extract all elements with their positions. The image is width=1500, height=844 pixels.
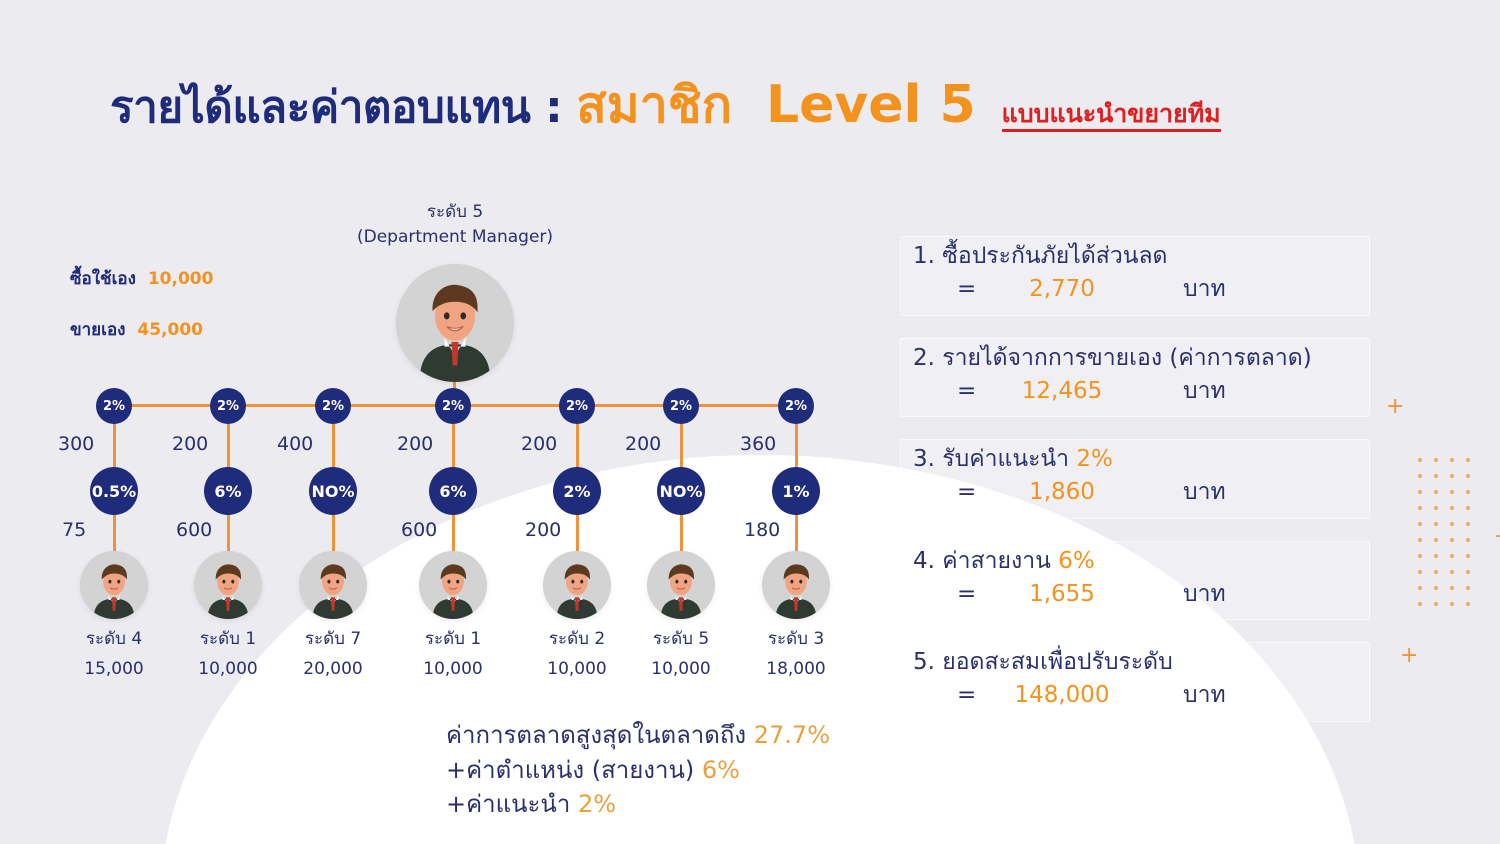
tree-mid-amount: 200 xyxy=(525,519,561,541)
tree-member-avatar xyxy=(419,551,487,619)
summary-block: ค่าการตลาดสูงสุดในตลาดถึง 27.7% +ค่าตำแห… xyxy=(446,718,830,822)
calculation-label: 1. ซื้อประกันภัยได้ส่วนลด xyxy=(913,241,1363,272)
tree-mid-badge: NO% xyxy=(309,467,357,515)
tree-mid-badge: 2% xyxy=(553,467,601,515)
calculation-equals-sign: = xyxy=(913,374,987,409)
tree-vertical-connector xyxy=(452,422,455,469)
tree-mid-badge: 6% xyxy=(204,467,252,515)
page-title: รายได้และค่าตอบแทน : สมาชิก Level 5 แบบแ… xyxy=(110,66,1221,145)
tree-vertical-connector xyxy=(680,513,683,553)
title-main-text: รายได้และค่าตอบแทน : xyxy=(110,72,562,142)
tree-member-sales: 10,000 xyxy=(168,655,288,685)
person-avatar-icon xyxy=(762,551,830,619)
calculation-equals-sign: = xyxy=(913,678,987,713)
person-avatar-icon xyxy=(419,551,487,619)
person-avatar-icon xyxy=(543,551,611,619)
calculation-unit: บาท xyxy=(1183,475,1226,510)
calculation-text: ซื้อประกันภัยได้ส่วนลด xyxy=(942,243,1167,269)
summary-line-2-text: +ค่าตำแหน่ง (สายงาน) xyxy=(446,756,694,784)
tree-member-level: ระดับ 4 xyxy=(54,625,174,655)
person-avatar-icon xyxy=(396,264,514,382)
tree-top-badge: 2% xyxy=(96,388,132,424)
tree-top-badge: 2% xyxy=(778,388,814,424)
title-subtitle-text: แบบแนะนำขยายทีม xyxy=(1002,101,1221,132)
calculation-number: 3. xyxy=(913,446,935,472)
calculation-value-row: =1,860บาท xyxy=(913,475,1363,510)
tree-member-sales: 20,000 xyxy=(273,655,393,685)
calculation-number: 5. xyxy=(913,649,935,675)
calculation-unit: บาท xyxy=(1183,374,1226,409)
tree-member-caption: ระดับ 110,000 xyxy=(393,625,513,685)
calculation-unit: บาท xyxy=(1183,678,1226,713)
person-avatar-icon xyxy=(80,551,148,619)
person-avatar-icon xyxy=(647,551,715,619)
calculation-percent: 2% xyxy=(1076,446,1113,472)
tree-member-sales: 10,000 xyxy=(517,655,637,685)
tree-mid-amount: 180 xyxy=(744,519,780,541)
arc-decoration xyxy=(1390,650,1500,844)
tree-mid-badge: 0.5% xyxy=(90,467,138,515)
person-avatar-icon xyxy=(194,551,262,619)
calculation-value: 12,465 xyxy=(987,374,1137,409)
tree-member-caption: ระดับ 510,000 xyxy=(621,625,741,685)
tree-member-sales: 10,000 xyxy=(393,655,513,685)
calculation-number: 1. xyxy=(913,243,935,269)
calculation-equals-sign: = xyxy=(913,577,987,612)
calculation-number: 2. xyxy=(913,345,935,371)
tree-member-avatar xyxy=(543,551,611,619)
calculation-value-row: =148,000บาท xyxy=(913,678,1363,713)
calculation-card: 3. รับค่าแนะนำ 2%=1,860บาท xyxy=(900,439,1370,519)
plus-decoration-icon: + xyxy=(1386,396,1404,418)
tree-member-avatar xyxy=(647,551,715,619)
root-avatar xyxy=(396,264,514,382)
self-amounts-block: ซื้อใช้เอง 10,000 ขายเอง 45,000 xyxy=(70,265,213,367)
calculation-equals-sign: = xyxy=(913,475,987,510)
tree-mid-amount: 600 xyxy=(401,519,437,541)
calculation-label: 5. ยอดสะสมเพื่อปรับระดับ xyxy=(913,647,1363,678)
plus-decoration-icon: + xyxy=(1400,645,1418,667)
tree-top-amount: 360 xyxy=(740,433,776,455)
self-buy-row: ซื้อใช้เอง 10,000 xyxy=(70,265,213,292)
calculation-value-row: =1,655บาท xyxy=(913,577,1363,612)
calculation-label: 2. รายได้จากการขายเอง (ค่าการตลาด) xyxy=(913,343,1363,374)
tree-member-level: ระดับ 2 xyxy=(517,625,637,655)
tree-top-amount: 300 xyxy=(58,433,94,455)
tree-vertical-connector xyxy=(227,513,230,553)
tree-member-sales: 18,000 xyxy=(736,655,856,685)
calculation-value: 2,770 xyxy=(987,272,1137,307)
calculation-card: 1. ซื้อประกันภัยได้ส่วนลด=2,770บาท xyxy=(900,236,1370,316)
tree-mid-amount: 600 xyxy=(176,519,212,541)
summary-line-1: ค่าการตลาดสูงสุดในตลาดถึง 27.7% xyxy=(446,718,830,753)
tree-vertical-connector xyxy=(332,422,335,469)
tree-top-badge: 2% xyxy=(559,388,595,424)
root-role-label: (Department Manager) xyxy=(300,225,610,250)
tree-vertical-connector xyxy=(332,513,335,553)
tree-mid-badge: 6% xyxy=(429,467,477,515)
tree-member-sales: 10,000 xyxy=(621,655,741,685)
calculation-value: 148,000 xyxy=(987,678,1137,713)
tree-member-avatar xyxy=(80,551,148,619)
tree-vertical-connector xyxy=(452,513,455,553)
calculation-text: ยอดสะสมเพื่อปรับระดับ xyxy=(942,649,1172,675)
summary-line-3-pct: 2% xyxy=(578,790,616,818)
tree-vertical-connector xyxy=(113,513,116,553)
self-sell-row: ขายเอง 45,000 xyxy=(70,316,213,343)
tree-member-avatar xyxy=(299,551,367,619)
tree-mid-amount: 75 xyxy=(62,519,86,541)
root-level-label: ระดับ 5 xyxy=(300,200,610,225)
tree-member-level: ระดับ 5 xyxy=(621,625,741,655)
calculation-card: 4. ค่าสายงาน 6%=1,655บาท xyxy=(900,541,1370,621)
tree-top-amount: 400 xyxy=(277,433,313,455)
tree-top-amount: 200 xyxy=(521,433,557,455)
plus-decoration-icon: + xyxy=(1494,526,1500,548)
self-buy-label: ซื้อใช้เอง xyxy=(70,269,136,289)
calculation-text: รับค่าแนะนำ xyxy=(942,446,1069,472)
tree-member-caption: ระดับ 210,000 xyxy=(517,625,637,685)
calculation-value-row: =2,770บาท xyxy=(913,272,1363,307)
tree-vertical-connector xyxy=(576,422,579,469)
tree-member-level: ระดับ 3 xyxy=(736,625,856,655)
tree-vertical-connector xyxy=(795,422,798,469)
calculation-label: 4. ค่าสายงาน 6% xyxy=(913,546,1363,577)
calculation-unit: บาท xyxy=(1183,272,1226,307)
tree-vertical-connector xyxy=(227,422,230,469)
calculation-label: 3. รับค่าแนะนำ 2% xyxy=(913,444,1363,475)
title-level-text: Level 5 xyxy=(766,75,976,135)
calculation-unit: บาท xyxy=(1183,577,1226,612)
calculation-text: ค่าสายงาน xyxy=(942,548,1051,574)
summary-line-2: +ค่าตำแหน่ง (สายงาน) 6% xyxy=(446,753,830,788)
tree-member-caption: ระดับ 720,000 xyxy=(273,625,393,685)
calculation-equals-sign: = xyxy=(913,272,987,307)
self-sell-label: ขายเอง xyxy=(70,320,125,340)
calculation-text: รายได้จากการขายเอง (ค่าการตลาด) xyxy=(942,345,1311,371)
tree-top-badge: 2% xyxy=(663,388,699,424)
summary-line-1-text: ค่าการตลาดสูงสุดในตลาดถึง xyxy=(446,721,746,749)
calculation-card: 5. ยอดสะสมเพื่อปรับระดับ=148,000บาท xyxy=(900,642,1370,722)
tree-member-avatar xyxy=(762,551,830,619)
tree-top-amount: 200 xyxy=(397,433,433,455)
calculation-value-row: =12,465บาท xyxy=(913,374,1363,409)
calculation-number: 4. xyxy=(913,548,935,574)
tree-member-sales: 15,000 xyxy=(54,655,174,685)
tree-member-caption: ระดับ 415,000 xyxy=(54,625,174,685)
dot-grid-decoration xyxy=(1415,455,1485,615)
self-sell-value: 45,000 xyxy=(137,320,203,340)
infographic-slide: + + + รายได้และค่าตอบแทน : สมาชิก Level … xyxy=(0,0,1500,844)
tree-top-amount: 200 xyxy=(625,433,661,455)
tree-top-amount: 200 xyxy=(172,433,208,455)
tree-vertical-connector xyxy=(576,513,579,553)
tree-member-level: ระดับ 1 xyxy=(168,625,288,655)
root-node-label: ระดับ 5 (Department Manager) xyxy=(300,200,610,249)
person-avatar-icon xyxy=(299,551,367,619)
summary-line-1-pct: 27.7% xyxy=(754,721,830,749)
tree-vertical-connector xyxy=(113,422,116,469)
tree-top-badge: 2% xyxy=(315,388,351,424)
tree-mid-badge: 1% xyxy=(772,467,820,515)
self-buy-value: 10,000 xyxy=(148,269,214,289)
tree-member-avatar xyxy=(194,551,262,619)
calculation-value: 1,655 xyxy=(987,577,1137,612)
calculations-panel: 1. ซื้อประกันภัยได้ส่วนลด=2,770บาท2. ราย… xyxy=(900,236,1370,744)
title-accent-text: สมาชิก xyxy=(576,66,732,145)
tree-member-caption: ระดับ 110,000 xyxy=(168,625,288,685)
tree-vertical-connector xyxy=(680,422,683,469)
tree-vertical-connector xyxy=(795,513,798,553)
tree-top-badge: 2% xyxy=(435,388,471,424)
calculation-value: 1,860 xyxy=(987,475,1137,510)
summary-line-3: +ค่าแนะนำ 2% xyxy=(446,787,830,822)
summary-line-2-pct: 6% xyxy=(702,756,740,784)
tree-member-level: ระดับ 7 xyxy=(273,625,393,655)
tree-mid-badge: NO% xyxy=(657,467,705,515)
tree-member-level: ระดับ 1 xyxy=(393,625,513,655)
tree-member-caption: ระดับ 318,000 xyxy=(736,625,856,685)
calculation-percent: 6% xyxy=(1058,548,1095,574)
calculation-card: 2. รายได้จากการขายเอง (ค่าการตลาด)=12,46… xyxy=(900,338,1370,418)
tree-top-badge: 2% xyxy=(210,388,246,424)
summary-line-3-text: +ค่าแนะนำ xyxy=(446,790,570,818)
